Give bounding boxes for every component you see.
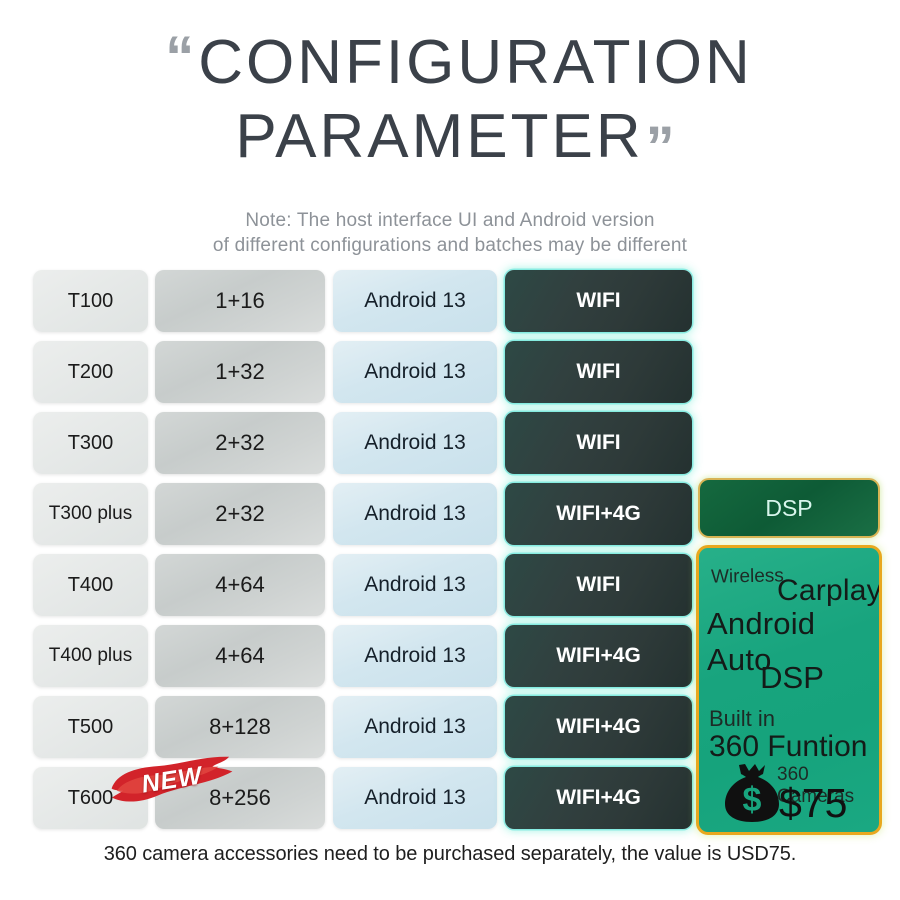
cell-network: WIFI+4G — [505, 767, 692, 829]
cell-os: Android 13 — [333, 767, 497, 829]
promo-panel: Wireless Carplay Android Auto DSP Built … — [696, 545, 882, 835]
cell-os: Android 13 — [333, 270, 497, 332]
cell-model: T300 plus — [33, 483, 148, 545]
configuration-parameter-page: “CONFIGURATION PARAMETER” Note: The host… — [0, 0, 900, 900]
cell-model: T500 — [33, 696, 148, 758]
cell-memory: 4+64 — [155, 554, 325, 616]
promo-dsp-label: DSP — [699, 660, 882, 696]
cell-network: WIFI+4G — [505, 696, 692, 758]
promo-carplay-label: Carplay — [777, 574, 882, 608]
cell-network: WIFI — [505, 554, 692, 616]
cell-memory: 8+256 — [155, 767, 325, 829]
cell-model: T400 — [33, 554, 148, 616]
cell-memory: 2+32 — [155, 412, 325, 474]
promo-360-function-label: 360 Funtion — [709, 730, 867, 764]
cell-os: Android 13 — [333, 412, 497, 474]
cell-network: WIFI+4G — [505, 483, 692, 545]
cell-network: WIFI+4G — [505, 625, 692, 687]
cell-network: WIFI — [505, 412, 692, 474]
money-bag-icon: $ — [719, 762, 785, 824]
promo-wireless-label: Wireless — [711, 565, 784, 588]
cell-memory: 1+32 — [155, 341, 325, 403]
cell-os: Android 13 — [333, 483, 497, 545]
cell-model: T600 — [33, 767, 148, 829]
cell-os: Android 13 — [333, 625, 497, 687]
table-row: T200 1+32 Android 13 WIFI — [0, 341, 900, 403]
cell-network: WIFI — [505, 341, 692, 403]
promo-content: Wireless Carplay Android Auto DSP Built … — [699, 548, 879, 832]
cell-memory: 4+64 — [155, 625, 325, 687]
cell-model: T300 — [33, 412, 148, 474]
table-row: T300 2+32 Android 13 WIFI — [0, 412, 900, 474]
cell-memory: 2+32 — [155, 483, 325, 545]
cell-os: Android 13 — [333, 341, 497, 403]
footer-note: 360 camera accessories need to be purcha… — [0, 843, 900, 866]
promo-price-label: $75 — [779, 780, 847, 827]
svg-text:$: $ — [743, 781, 762, 819]
cell-model: T400 plus — [33, 625, 148, 687]
table-row: T100 1+16 Android 13 WIFI — [0, 270, 900, 332]
cell-network: WIFI — [505, 270, 692, 332]
promo-built-in-label: Built in — [709, 706, 775, 732]
cell-model: T200 — [33, 341, 148, 403]
cell-model: T100 — [33, 270, 148, 332]
cell-memory: 1+16 — [155, 270, 325, 332]
cell-os: Android 13 — [333, 696, 497, 758]
cell-memory: 8+128 — [155, 696, 325, 758]
cell-os: Android 13 — [333, 554, 497, 616]
cell-dsp: DSP — [698, 478, 880, 538]
